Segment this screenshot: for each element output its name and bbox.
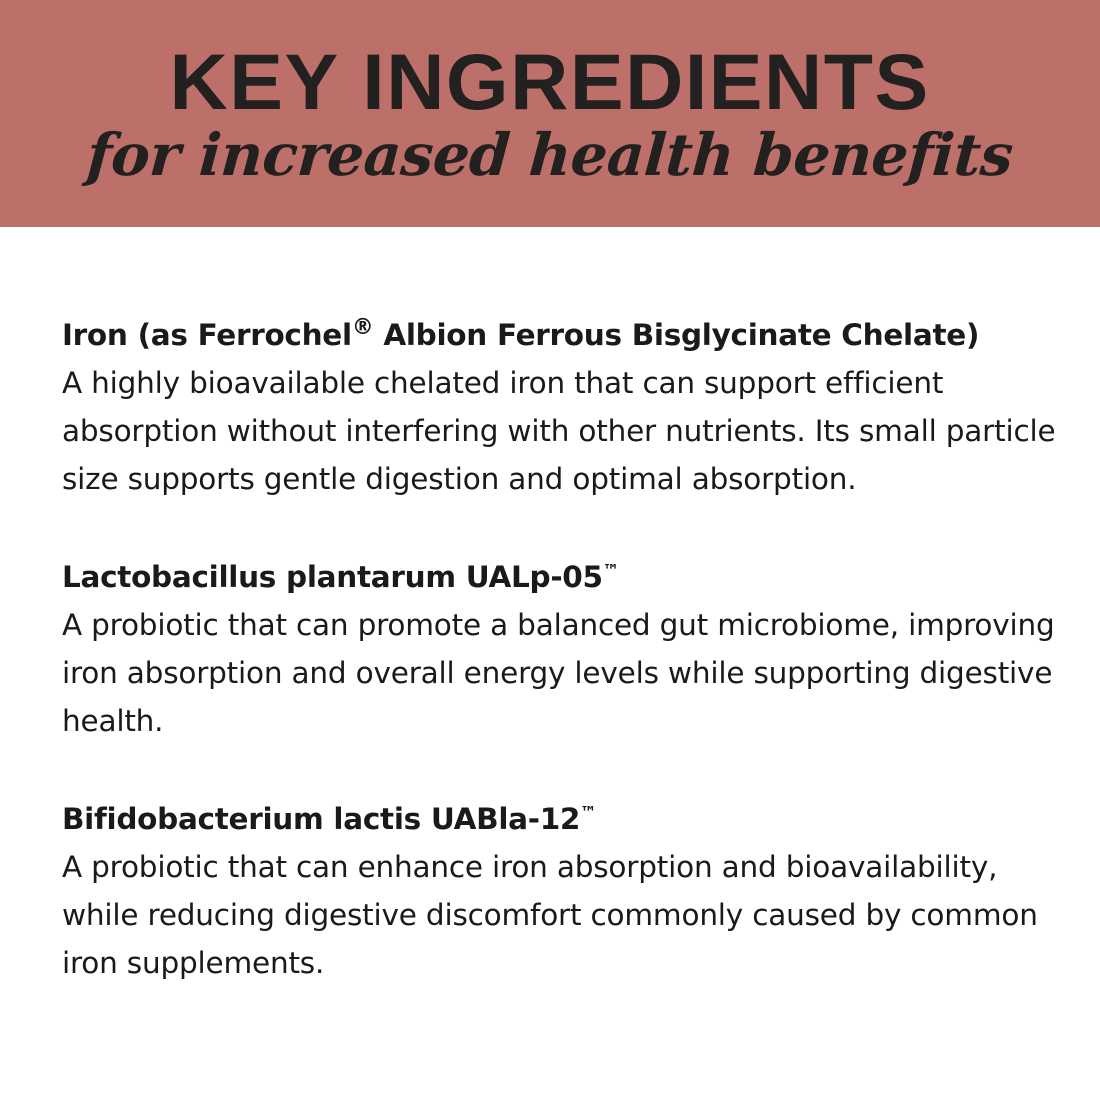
ingredient-item-iron: Iron (as Ferrochel® Albion Ferrous Bisgl… [62,311,1060,503]
ingredient-item-bifidobacterium-lactis: Bifidobacterium lactis UABla-12™ A probi… [62,795,1060,987]
page-title: KEY INGREDIENTS [170,43,930,120]
ingredient-description: A probiotic that can enhance iron absorp… [62,843,1060,987]
key-ingredients-page: KEY INGREDIENTS for increased health ben… [0,0,1100,1100]
trademark-icon: ™ [580,803,597,822]
page-subtitle: for increased health benefits [85,126,1015,184]
ingredient-name: Lactobacillus plantarum UALp-05™ [62,553,1060,601]
ingredient-item-lactobacillus-plantarum: Lactobacillus plantarum UALp-05™ A probi… [62,553,1060,745]
header-banner: KEY INGREDIENTS for increased health ben… [0,0,1100,227]
ingredient-name: Iron (as Ferrochel® Albion Ferrous Bisgl… [62,311,1060,359]
ingredient-name-prefix: Iron (as Ferrochel [62,318,352,352]
ingredients-list: Iron (as Ferrochel® Albion Ferrous Bisgl… [0,227,1100,1100]
registered-trademark-icon: ® [352,315,374,340]
trademark-icon: ™ [603,561,620,580]
ingredient-name-prefix: Bifidobacterium lactis UABla-12 [62,802,580,836]
ingredient-name-prefix: Lactobacillus plantarum UALp-05 [62,560,603,594]
ingredient-description: A probiotic that can promote a balanced … [62,601,1060,745]
ingredient-description: A highly bioavailable chelated iron that… [62,359,1060,503]
ingredient-name: Bifidobacterium lactis UABla-12™ [62,795,1060,843]
ingredient-name-suffix: Albion Ferrous Bisglycinate Chelate) [373,318,979,352]
